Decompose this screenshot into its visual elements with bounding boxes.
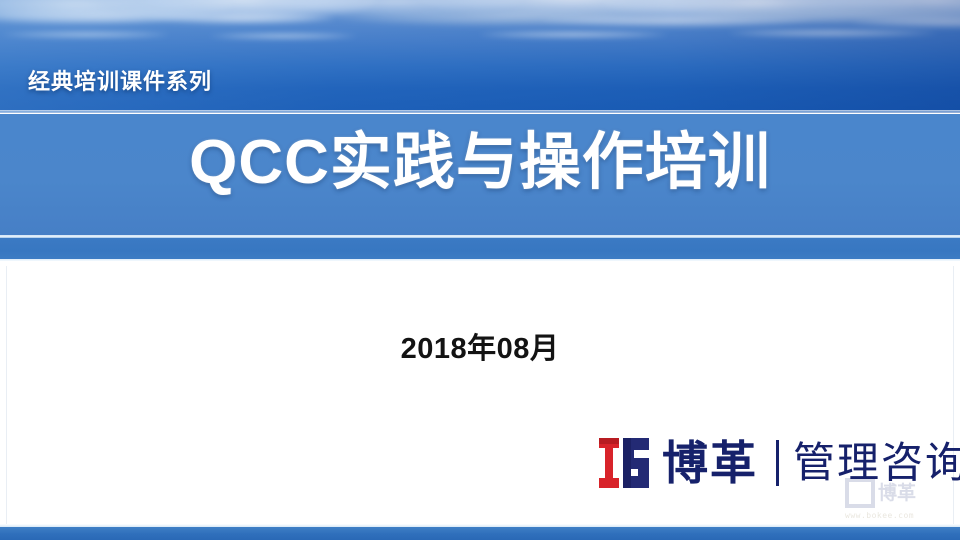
bg-monogram-icon bbox=[596, 436, 652, 490]
footer-bar bbox=[0, 527, 960, 540]
sky-gradient-tint bbox=[0, 0, 960, 113]
title-band-lower bbox=[0, 238, 960, 260]
logo-brand-text: 博革 bbox=[662, 440, 758, 486]
page-title: QCC实践与操作培训 bbox=[0, 129, 960, 197]
logo-tagline-text: 管理咨询 bbox=[793, 442, 960, 484]
presentation-slide: 经典培训课件系列 QCC实践与操作培训 2018年08月 博革 www.boke… bbox=[0, 0, 960, 540]
company-logo: 博革 管理咨询 bbox=[596, 433, 960, 493]
body-left-hairline bbox=[6, 266, 7, 524]
sky-banner-image bbox=[0, 0, 960, 113]
series-kicker-label: 经典培训课件系列 bbox=[28, 64, 212, 96]
slide-date: 2018年08月 bbox=[0, 325, 960, 367]
logo-divider bbox=[776, 440, 779, 486]
